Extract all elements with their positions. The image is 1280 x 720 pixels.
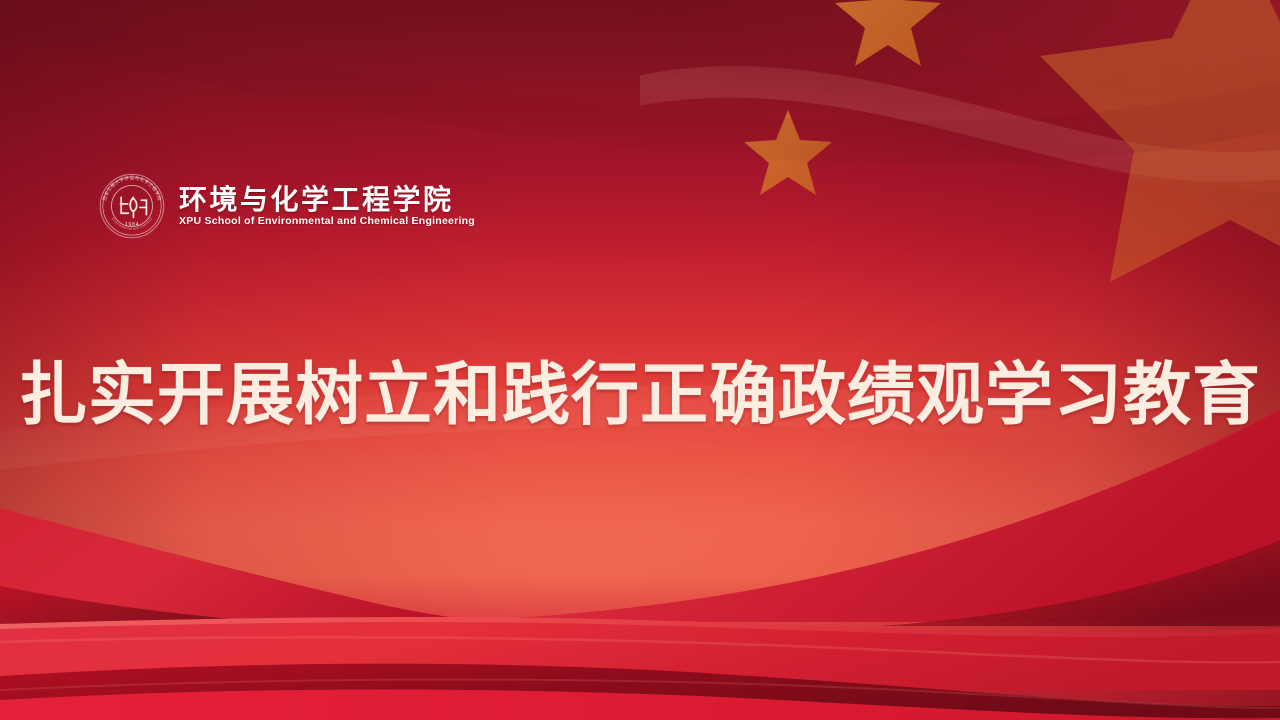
chinese-flag-watermark — [640, 0, 1280, 290]
title-block: 扎实开展树立和践行正确政绩观学习教育 — [0, 312, 1280, 479]
school-name-cn: 环境与化学工程学院 — [179, 185, 475, 214]
school-name-en: XPU School of Environmental and Chemical… — [179, 216, 475, 228]
emblem-monogram — [120, 197, 146, 217]
school-emblem-icon: 西安工程大学环境与化学工程学院 Environmental and Chemic… — [96, 170, 168, 242]
emblem-year: 1984 — [125, 222, 139, 228]
school-logo-lockup: 西安工程大学环境与化学工程学院 Environmental and Chemic… — [96, 170, 475, 242]
presentation-title-slide: 西安工程大学环境与化学工程学院 Environmental and Chemic… — [0, 0, 1280, 720]
school-logo-text: 环境与化学工程学院 XPU School of Environmental an… — [179, 185, 475, 228]
slide-main-title: 扎实开展树立和践行正确政绩观学习教育 — [19, 358, 1261, 434]
